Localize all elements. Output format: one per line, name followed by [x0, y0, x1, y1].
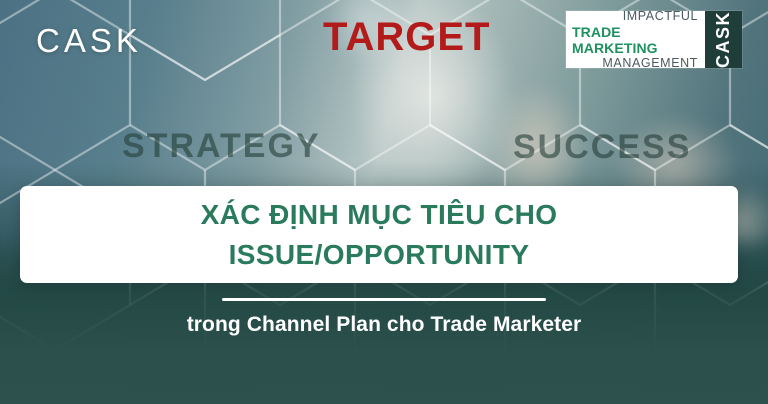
headline-line-1: XÁC ĐỊNH MỤC TIÊU CHO	[201, 195, 558, 235]
slide-banner: CASK TARGET STRATEGY SUCCESS IMPACTFUL T…	[0, 0, 768, 404]
divider-rule	[222, 298, 546, 301]
logo-cask-badge: CASK	[705, 11, 742, 68]
logo-line-impactful: IMPACTFUL	[623, 9, 698, 24]
logo-line-trade-marketing: TRADE MARKETING	[572, 24, 698, 56]
headline-line-2: ISSUE/OPPORTUNITY	[229, 235, 530, 275]
brand-logo[interactable]: IMPACTFUL TRADE MARKETING MANAGEMENT CAS…	[566, 11, 742, 68]
logo-line-management: MANAGEMENT	[602, 56, 698, 71]
subtitle-text: trong Channel Plan cho Trade Marketer	[0, 313, 768, 337]
headline-card: XÁC ĐỊNH MỤC TIÊU CHO ISSUE/OPPORTUNITY	[20, 186, 738, 283]
logo-wordmark: IMPACTFUL TRADE MARKETING MANAGEMENT	[566, 11, 705, 68]
logo-cask-badge-label: CASK	[713, 11, 734, 68]
